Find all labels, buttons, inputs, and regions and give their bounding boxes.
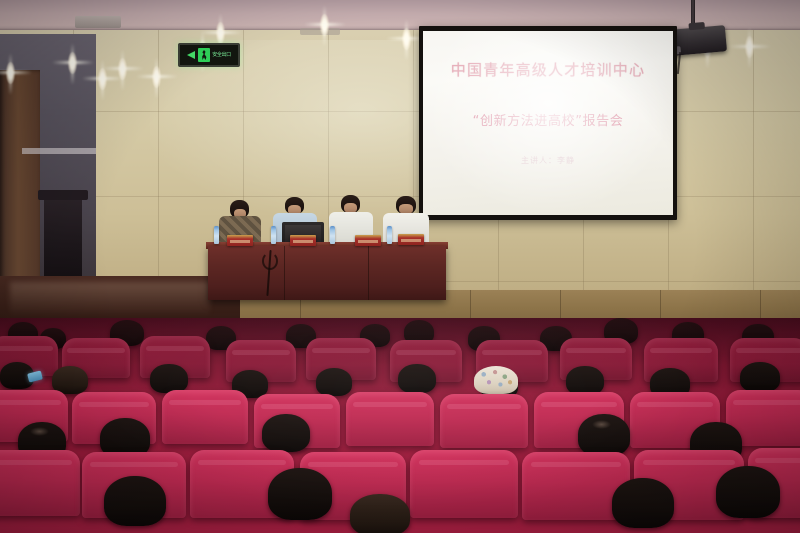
auditorium-seat[interactable] — [0, 450, 80, 516]
attendee-head — [150, 364, 188, 393]
attendee-patterned-cap — [474, 366, 518, 394]
attendee-head — [398, 364, 436, 393]
ceiling-lamp — [402, 28, 411, 50]
running-person-icon — [198, 48, 210, 62]
attendee-head — [578, 414, 630, 456]
phone-screen[interactable] — [27, 370, 43, 382]
ceiling-lamp — [98, 68, 107, 90]
ceiling-lamp — [216, 22, 225, 44]
projection-screen-frame: 中国青年高级人才培训中心 “创新方法进高校”报告会 主讲人：李静 — [419, 26, 677, 220]
auditorium-seat[interactable] — [410, 450, 518, 518]
attendee-head — [316, 368, 352, 396]
nameplate — [398, 234, 424, 245]
slide-speaker: 主讲人：李静 — [521, 155, 575, 166]
nameplate — [355, 235, 381, 246]
attendee-head — [104, 476, 166, 526]
water-bottle — [387, 226, 392, 244]
slide-subtitle: “创新方法进高校”报告会 — [473, 110, 624, 129]
ceiling-vent — [75, 16, 121, 28]
ceiling-lamp — [745, 36, 754, 58]
ceiling-lamp — [68, 52, 77, 74]
attendee-head — [566, 366, 604, 395]
water-bottle — [271, 226, 276, 244]
attendee-head — [740, 362, 780, 392]
ceiling-lamp — [152, 66, 161, 88]
water-bottle — [330, 226, 335, 244]
head-table — [208, 246, 446, 300]
alcove-rail — [22, 148, 96, 154]
nameplate — [290, 235, 316, 246]
exit-arrow-left-icon — [187, 51, 195, 59]
emergency-exit-sign: 安全出口 — [178, 43, 240, 67]
exit-sign-label: 安全出口 — [212, 53, 230, 58]
table-cable-loop — [262, 252, 278, 270]
attendee-head — [716, 466, 780, 518]
nameplate — [227, 235, 253, 246]
water-bottle — [214, 226, 219, 244]
ceiling-lamp — [118, 58, 127, 80]
slide-title: 中国青年高级人才培训中心 — [451, 59, 645, 80]
attendee-head — [350, 494, 410, 533]
attendee-head — [262, 414, 310, 452]
photo-scene: 安全出口 中国青年高级人才培训中心 “创新方法进高校”报告会 主讲人：李静 — [0, 0, 800, 533]
auditorium-seat[interactable] — [162, 390, 248, 444]
attendee-head — [268, 468, 332, 520]
auditorium-seat[interactable] — [346, 392, 434, 446]
attendee-head — [612, 478, 674, 528]
left-door — [0, 70, 40, 292]
projection-screen: 中国青年高级人才培训中心 “创新方法进高校”报告会 主讲人：李静 — [423, 31, 673, 215]
side-podium — [44, 196, 82, 278]
ceiling-lamp — [320, 14, 329, 36]
auditorium-seat[interactable] — [440, 394, 528, 448]
audience-seating — [0, 318, 800, 533]
ceiling-lamp — [6, 62, 15, 84]
